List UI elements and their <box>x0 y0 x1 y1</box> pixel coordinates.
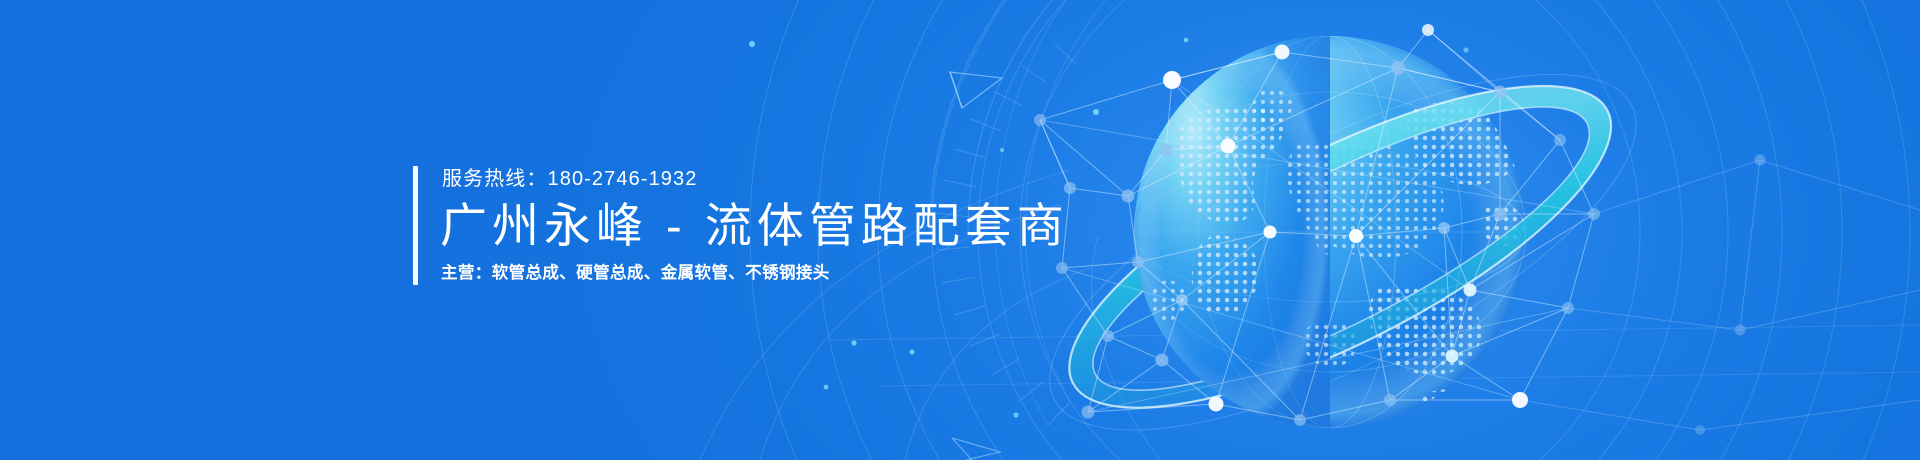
service-hotline: 服务热线：180-2746-1932 <box>442 166 1069 192</box>
accent-bar <box>413 166 418 285</box>
network-mesh-right <box>1520 160 1920 430</box>
network-nodes-right <box>1695 155 1766 436</box>
hero-text-block: 服务热线：180-2746-1932 广州永峰 - 流体管路配套商 主营：软管总… <box>413 166 1069 285</box>
main-products-line: 主营：软管总成、硬管总成、金属软管、不锈钢接头 <box>441 261 1069 285</box>
wireframe-triangle-bottom <box>952 438 1000 460</box>
hero-text-column: 服务热线：180-2746-1932 广州永峰 - 流体管路配套商 主营：软管总… <box>442 166 1069 285</box>
hero-banner: 服务热线：180-2746-1932 广州永峰 - 流体管路配套商 主营：软管总… <box>0 0 1920 460</box>
page-title: 广州永峰 - 流体管路配套商 <box>440 196 1069 256</box>
